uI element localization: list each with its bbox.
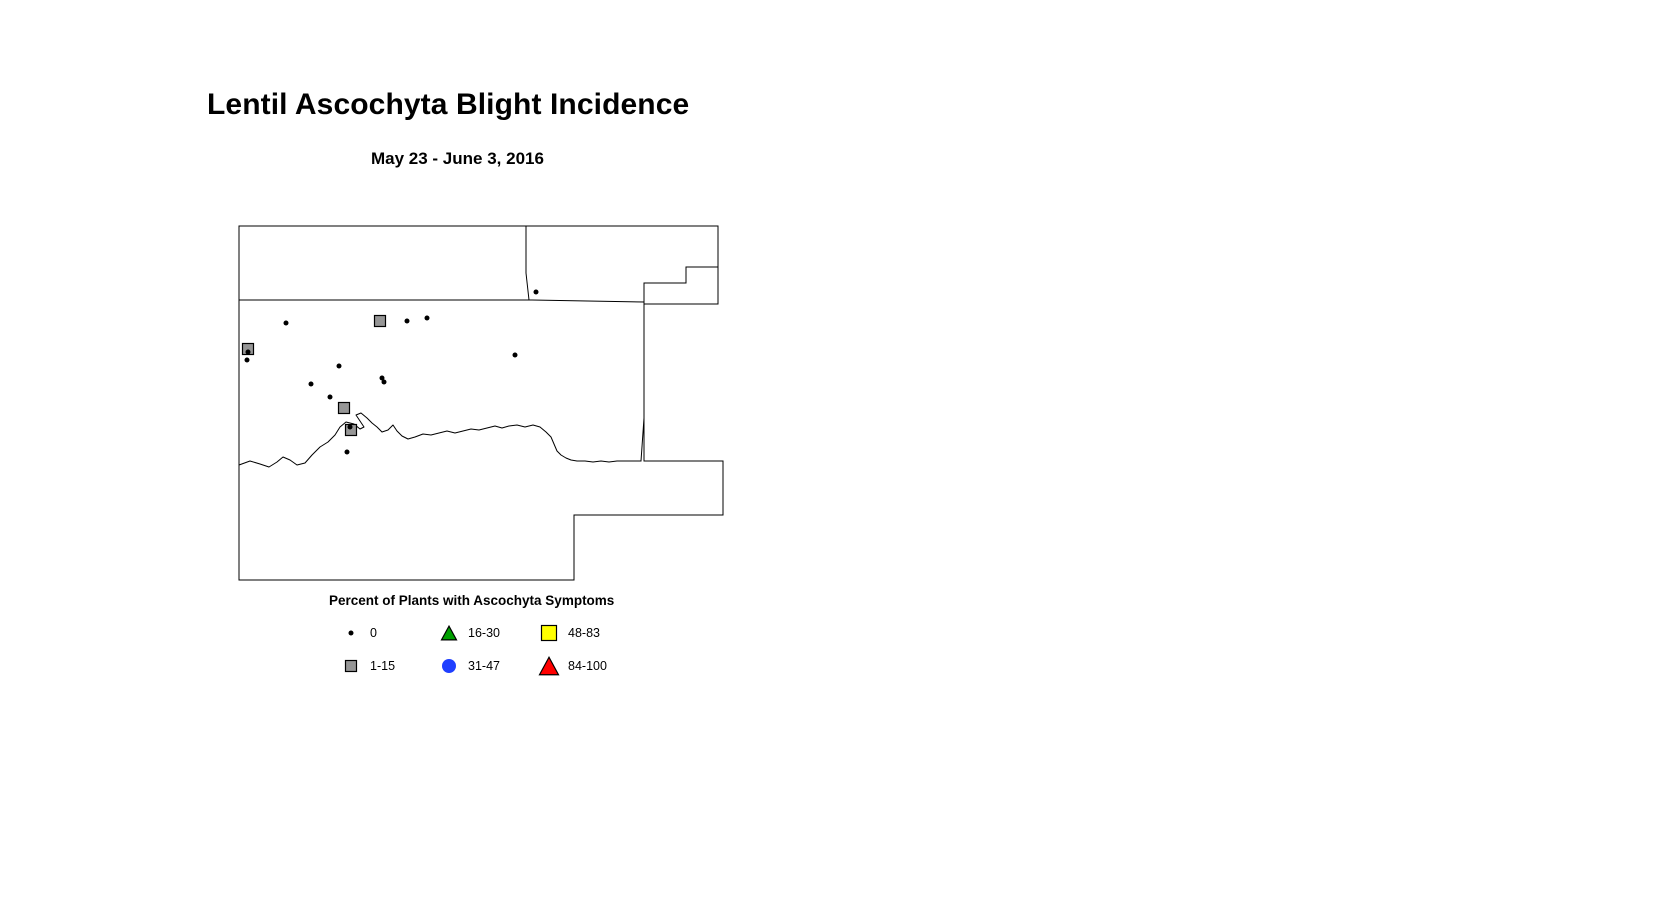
county-boundary-path <box>239 226 723 580</box>
survey-site-marker <box>375 316 386 327</box>
survey-site-marker <box>425 316 430 321</box>
county-boundary-path <box>526 226 529 300</box>
river-path <box>239 413 641 467</box>
circle-symbol-icon <box>438 655 460 677</box>
county-boundary-path <box>644 226 718 304</box>
legend-item-label: 1-15 <box>370 659 395 673</box>
survey-site-marker <box>382 380 387 385</box>
legend-item-label: 31-47 <box>468 659 500 673</box>
county-boundary-path <box>239 300 644 302</box>
legend-item-label: 84-100 <box>568 659 607 673</box>
legend-item: 0 <box>340 616 377 649</box>
legend-row-bottom: 1-1531-4784-100 <box>236 649 796 682</box>
square-symbol-icon <box>538 622 560 644</box>
survey-site-marker <box>348 425 353 430</box>
legend-rows: 016-3048-83 1-1531-4784-100 <box>236 616 796 682</box>
legend-item-label: 0 <box>370 626 377 640</box>
survey-site-marker <box>339 403 350 414</box>
map-figure: Lentil Ascochyta Blight Incidence May 23… <box>0 0 1673 900</box>
date-range-subtitle: May 23 - June 3, 2016 <box>371 150 544 169</box>
survey-site-marker <box>328 395 333 400</box>
legend-row-top: 016-3048-83 <box>236 616 796 649</box>
survey-site-marker <box>345 450 350 455</box>
circle-symbol-icon <box>340 622 362 644</box>
legend-item: 31-47 <box>438 649 500 682</box>
legend-item: 1-15 <box>340 649 395 682</box>
survey-site-marker <box>405 319 410 324</box>
river-boundary <box>239 413 641 467</box>
survey-site-marker <box>245 358 250 363</box>
legend-item: 48-83 <box>538 616 600 649</box>
legend-item-label: 48-83 <box>568 626 600 640</box>
legend: Percent of Plants with Ascochyta Symptom… <box>236 590 796 685</box>
legend-item: 16-30 <box>438 616 500 649</box>
map-canvas <box>236 203 736 588</box>
page-title: Lentil Ascochyta Blight Incidence <box>207 88 689 121</box>
survey-site-marker <box>534 290 539 295</box>
triangle-symbol-icon <box>538 655 560 677</box>
legend-item-label: 16-30 <box>468 626 500 640</box>
triangle-symbol-icon <box>438 622 460 644</box>
legend-item: 84-100 <box>538 649 607 682</box>
survey-site-marker <box>284 321 289 326</box>
survey-site-markers <box>243 290 539 455</box>
county-map-svg <box>236 203 736 588</box>
survey-site-marker <box>246 350 251 355</box>
survey-site-marker <box>337 364 342 369</box>
legend-title: Percent of Plants with Ascochyta Symptom… <box>329 593 614 608</box>
square-symbol-icon <box>340 655 362 677</box>
survey-site-marker <box>309 382 314 387</box>
survey-site-marker <box>513 353 518 358</box>
county-boundaries <box>239 226 723 580</box>
